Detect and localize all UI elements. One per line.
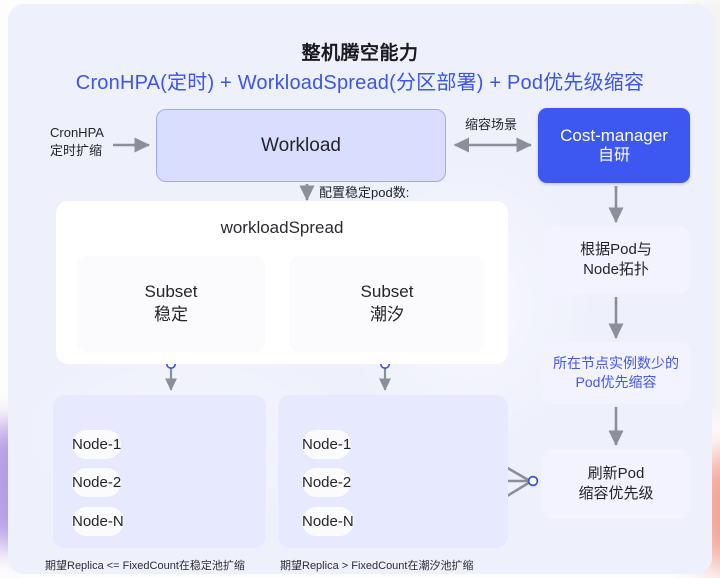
footnote-stable: 期望Replica <= FixedCount在稳定池扩缩 (45, 557, 245, 573)
diagram-card: 整机腾空能力 CronHPA(定时) + WorkloadSpread(分区部署… (8, 4, 712, 574)
flow-box-topology[interactable]: 根据Pod与 Node拓扑 (542, 226, 690, 294)
node-item-tidal-1[interactable]: Node-1 (302, 430, 351, 459)
diagram-title: 整机腾空能力 (8, 38, 712, 65)
flow-box-priority-line2: Pod优先缩容 (576, 373, 657, 392)
node-item-tidal-2[interactable]: Node-2 (302, 468, 351, 497)
connector-dot-refresh (529, 477, 538, 486)
cost-manager-box[interactable]: Cost-manager 自研 (538, 108, 690, 183)
flow-box-refresh-line1: 刷新Pod (588, 464, 645, 484)
node-item-stable-1[interactable]: Node-1 (72, 430, 121, 459)
node-item-stable-3[interactable]: Node-N (72, 507, 124, 536)
subset-tidal-box[interactable]: Subset 潮汐 (289, 256, 485, 352)
flow-box-topology-line2: Node拓扑 (583, 260, 649, 280)
subset-tidal-title: Subset (361, 281, 414, 304)
cronhpa-edge-label-line2: 定时扩缩 (50, 142, 104, 160)
cronhpa-edge-label-line1: CronHPA (50, 124, 104, 142)
subset-tidal-subtitle: 潮汐 (370, 304, 404, 327)
workload-label: Workload (261, 135, 341, 157)
cost-manager-label: Cost-manager (560, 125, 668, 146)
subset-stable-box[interactable]: Subset 稳定 (77, 256, 265, 352)
cronhpa-edge-label: CronHPA 定时扩缩 (50, 124, 104, 159)
flow-box-topology-line1: 根据Pod与 (580, 240, 652, 260)
cost-manager-sublabel: 自研 (560, 146, 668, 166)
footnote-tidal: 期望Replica > FixedCount在潮汐池扩缩 (280, 557, 473, 573)
diagram-subtitle: CronHPA(定时) + WorkloadSpread(分区部署) + Pod… (8, 66, 712, 95)
fixedcount-edge-label-line1: 配置稳定pod数: (319, 184, 409, 202)
subset-stable-subtitle: 稳定 (154, 304, 188, 327)
flow-box-priority[interactable]: 所在节点实例数少的 Pod优先缩容 (542, 342, 690, 404)
workloadspread-label: workloadSpread (56, 218, 508, 238)
scale-scenario-label: 缩容场景 (465, 116, 517, 134)
flow-box-priority-line1: 所在节点实例数少的 (553, 354, 679, 373)
subset-stable-title: Subset (145, 281, 198, 304)
flow-box-refresh-line2: 缩容优先级 (578, 484, 653, 504)
workload-box[interactable]: Workload (156, 109, 446, 182)
node-item-tidal-3[interactable]: Node-N (302, 507, 354, 536)
flow-box-refresh[interactable]: 刷新Pod 缩容优先级 (542, 449, 690, 519)
node-item-stable-2[interactable]: Node-2 (72, 468, 121, 497)
